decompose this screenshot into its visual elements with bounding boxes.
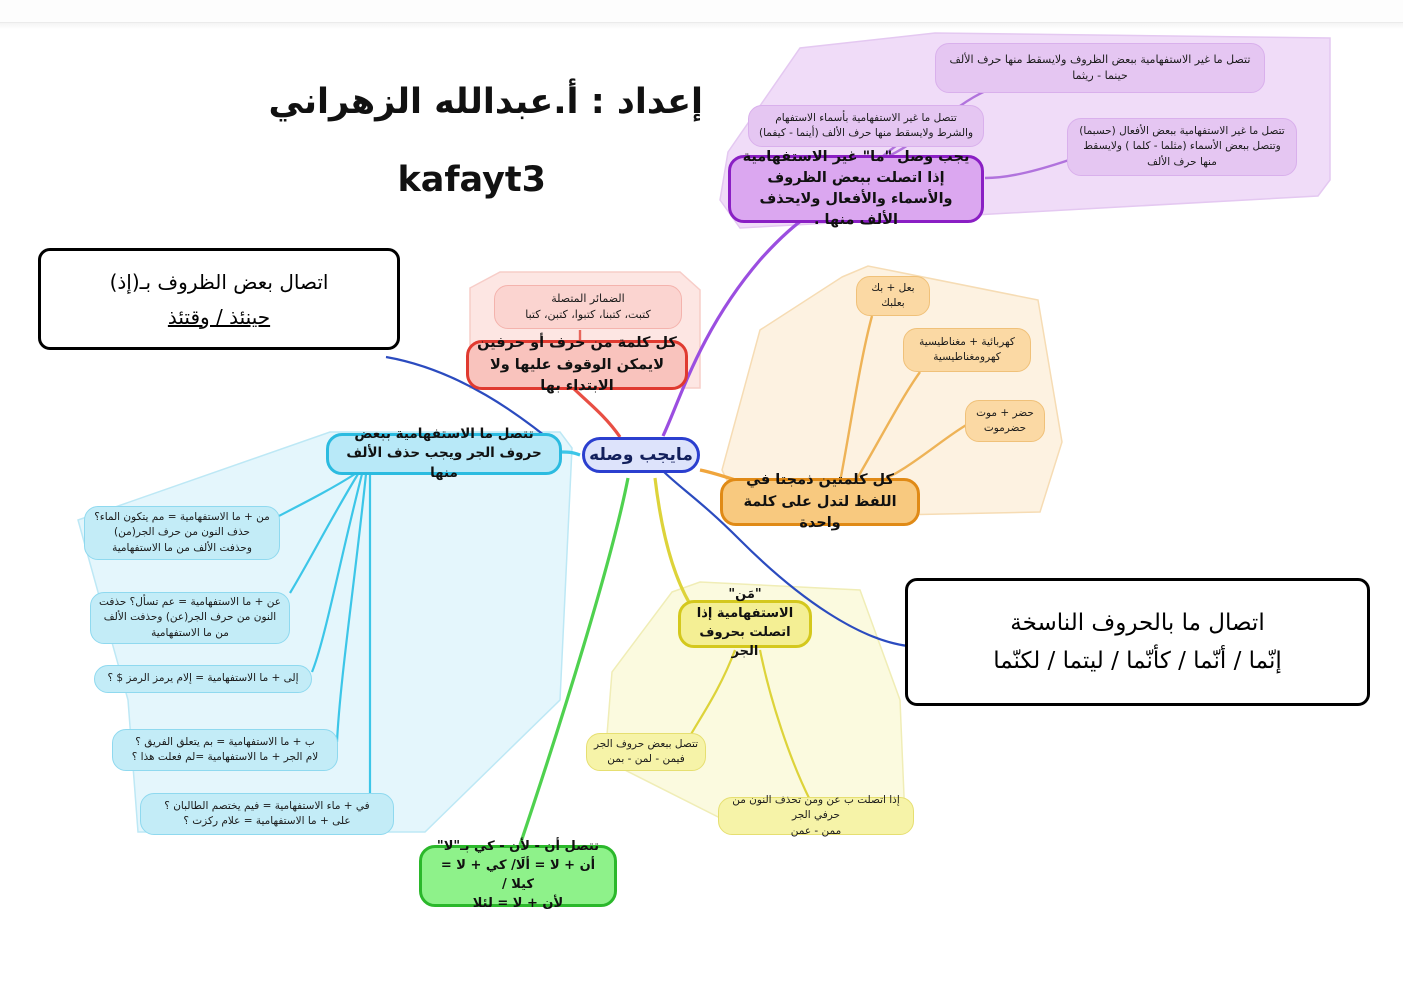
link-cyan-c2 — [290, 474, 358, 593]
branch-purple-child-3[interactable]: تتصل ما غير الاستفهامية ببعض الأفعال (حس… — [1067, 118, 1297, 176]
branch-cyan-child-1-label: من + ما الاستفهامية = مم يتكون الماء؟ حذ… — [92, 510, 272, 556]
note-right-line2: إنّما / أنّما / كأنّما / ليتما / لكنّما — [993, 648, 1282, 674]
branch-purple-child-1[interactable]: تتصل ما غير الاستفهامية ببعض الظروف ولاي… — [935, 43, 1265, 93]
branch-yellow-child-2[interactable]: إذا اتصلت ب عن ومن تحذف النون من حرفي ال… — [718, 797, 914, 835]
branch-green-main-label: تتصل أن - لأن - كي بـ"لا" أن + لا = ألَا… — [430, 838, 606, 913]
branch-purple-child-2[interactable]: تتصل ما غير الاستفهامية بأسماء الاستفهام… — [748, 105, 984, 147]
branch-yellow-main[interactable]: "مَن" الاستفهامية إذا اتصلت بحروف الجر — [678, 600, 812, 648]
link-orange-c2 — [855, 372, 920, 482]
branch-cyan-child-1[interactable]: من + ما الاستفهامية = مم يتكون الماء؟ حذ… — [84, 506, 280, 560]
link-yellow-c1 — [690, 650, 735, 736]
branch-cyan-child-4[interactable]: ب + ما الاستفهامية = بم يتعلق الفريق ؟ ل… — [112, 729, 338, 771]
branch-orange-child-2-label: كهربائية + مغناطيسية كهرومغناطيسية — [910, 335, 1024, 365]
link-orange-c1 — [840, 316, 872, 482]
branch-orange-child-1[interactable]: بعل + بك بعلبك — [856, 276, 930, 316]
branch-cyan-child-3-label: إلى + ما الاستفهامية = إلام يرمز الرمز $… — [102, 671, 304, 686]
branch-yellow-child-1-label: تتصل ببعض حروف الجر فيمن - لمن - بمن — [593, 737, 699, 767]
note-right-line1: اتصال ما بالحروف الناسخة — [1010, 610, 1264, 636]
branch-cyan-child-2[interactable]: عن + ما الاستفهامية = عم تسأل؟ حذفت النو… — [90, 592, 290, 644]
link-center-green — [520, 478, 628, 845]
branch-cyan-child-3[interactable]: إلى + ما الاستفهامية = إلام يرمز الرمز $… — [94, 665, 312, 693]
page-title-arabic: إعداد : أ.عبدالله الزهراني — [269, 82, 704, 122]
branch-cyan-main[interactable]: تتصل ما الاستفهامية ببعض حروف الجر ويجب … — [326, 433, 562, 475]
branch-red-main[interactable]: كل كلمة من حرف أو حرفين لايمكن الوقوف عل… — [466, 340, 688, 390]
branch-purple-child-3-label: تتصل ما غير الاستفهامية ببعض الأفعال (حس… — [1076, 124, 1288, 170]
branch-yellow-main-label: "مَن" الاستفهامية إذا اتصلت بحروف الجر — [688, 586, 802, 661]
branch-cyan-child-5[interactable]: في + ماء الاستفهامية = فيم يختصم الطالبا… — [140, 793, 394, 835]
link-cyan-c4 — [337, 474, 366, 742]
page-title-latin: kafayt3 — [397, 160, 546, 200]
branch-cyan-child-2-label: عن + ما الاستفهامية = عم تسأل؟ حذفت النو… — [98, 595, 282, 641]
page-top-shadow — [0, 23, 1403, 29]
link-center-purple — [663, 196, 850, 436]
branch-yellow-child-1[interactable]: تتصل ببعض حروف الجر فيمن - لمن - بمن — [586, 733, 706, 771]
link-center-cyan — [562, 452, 580, 455]
note-left-line1: اتصال بعض الظروف بـ(إذ) — [110, 270, 329, 294]
branch-orange-child-3-label: حضر + موت حضرموت — [972, 406, 1038, 436]
branch-orange-child-2[interactable]: كهربائية + مغناطيسية كهرومغناطيسية — [903, 328, 1031, 372]
center-node[interactable]: مايجب وصله — [582, 437, 700, 473]
center-node-label: مايجب وصله — [585, 443, 697, 468]
branch-red-child-1[interactable]: الضمائر المتصلة كتبت، كتبنا، كتبوا، كتبن… — [494, 285, 682, 329]
link-center-yellow — [655, 478, 690, 604]
branch-purple-main-label: يجب وصل "ما" غير الاستفهامية إذا اتصلت ب… — [739, 147, 973, 231]
note-box-left: اتصال بعض الظروف بـ(إذ) حينئذ / وقتئذ — [38, 248, 400, 350]
link-cyan-c3 — [312, 474, 362, 672]
branch-yellow-child-2-label: إذا اتصلت ب عن ومن تحذف النون من حرفي ال… — [725, 793, 907, 839]
branch-orange-main-label: كل كلمتين ذمجتا في اللفظ لتدل على كلمة و… — [731, 470, 909, 533]
branch-cyan-main-label: تتصل ما الاستفهامية ببعض حروف الجر ويجب … — [337, 425, 551, 484]
branch-orange-child-3[interactable]: حضر + موت حضرموت — [965, 400, 1045, 442]
branch-purple-main[interactable]: يجب وصل "ما" غير الاستفهامية إذا اتصلت ب… — [728, 155, 984, 223]
page-top-strip — [0, 0, 1403, 23]
branch-purple-child-1-label: تتصل ما غير الاستفهامية ببعض الظروف ولاي… — [945, 52, 1255, 84]
branch-cyan-child-5-label: في + ماء الاستفهامية = فيم يختصم الطالبا… — [148, 799, 386, 829]
branch-cyan-child-4-label: ب + ما الاستفهامية = بم يتعلق الفريق ؟ ل… — [120, 735, 330, 765]
branch-orange-child-1-label: بعل + بك بعلبك — [863, 281, 923, 311]
branch-red-child-1-label: الضمائر المتصلة كتبت، كتبنا، كتبوا، كتبن… — [503, 291, 673, 323]
note-left-line2: حينئذ / وقتئذ — [168, 305, 270, 329]
branch-red-main-label: كل كلمة من حرف أو حرفين لايمكن الوقوف عل… — [477, 333, 677, 396]
link-purple-c3 — [985, 158, 1075, 178]
link-yellow-c2 — [760, 650, 810, 800]
branch-green-main[interactable]: تتصل أن - لأن - كي بـ"لا" أن + لا = ألَا… — [419, 845, 617, 907]
mindmap-canvas: إعداد : أ.عبدالله الزهراني kafayt3 — [0, 0, 1403, 992]
branch-orange-main[interactable]: كل كلمتين ذمجتا في اللفظ لتدل على كلمة و… — [720, 478, 920, 526]
note-box-right: اتصال ما بالحروف الناسخة إنّما / أنّما /… — [905, 578, 1370, 706]
branch-purple-child-2-label: تتصل ما غير الاستفهامية بأسماء الاستفهام… — [757, 111, 975, 141]
